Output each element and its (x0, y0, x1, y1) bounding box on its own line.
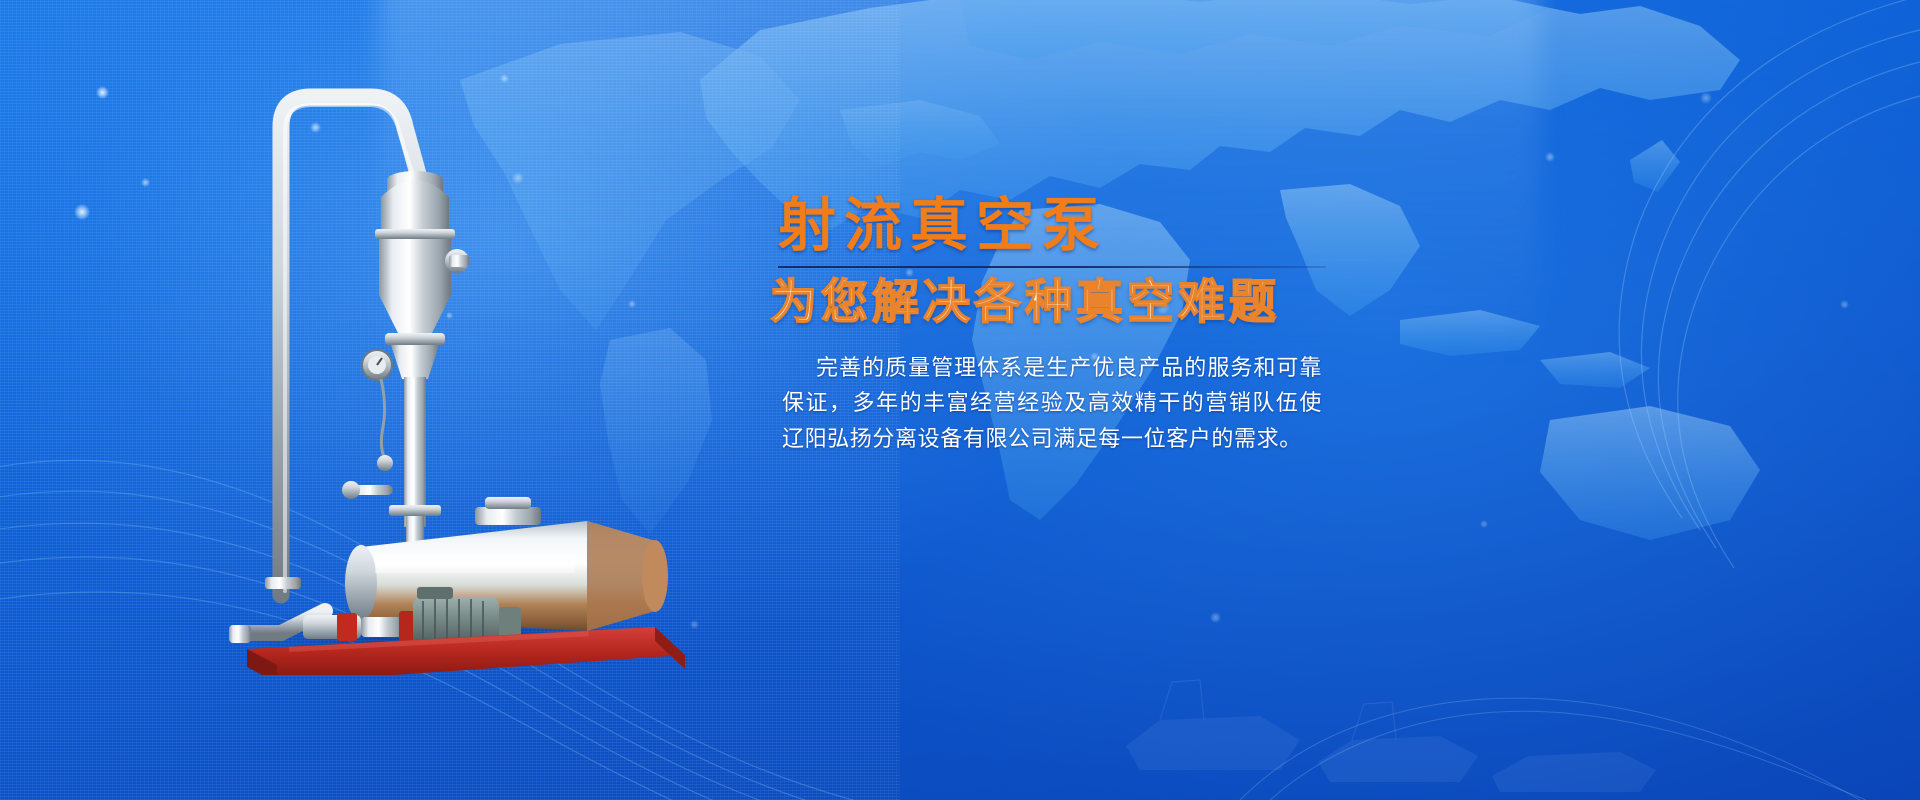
headline-divider (778, 266, 1326, 268)
banner-headline: 射流真空泵 (778, 196, 1330, 254)
promo-banner: 射流真空泵 为您解决各种真空难题 完善的质量管理体系是生产优良产品的服务和可靠保… (0, 0, 1920, 800)
banner-text-block: 射流真空泵 为您解决各种真空难题 完善的质量管理体系是生产优良产品的服务和可靠保… (760, 196, 1330, 458)
product-image-jet-vacuum-pump (185, 35, 705, 675)
banner-description-paragraph: 完善的质量管理体系是生产优良产品的服务和可靠保证，多年的丰富经营经验及高效精干的… (782, 351, 1322, 458)
banner-subheadline: 为您解决各种真空难题 (770, 278, 1330, 329)
hull-silhouette-decoration (1100, 620, 1740, 800)
